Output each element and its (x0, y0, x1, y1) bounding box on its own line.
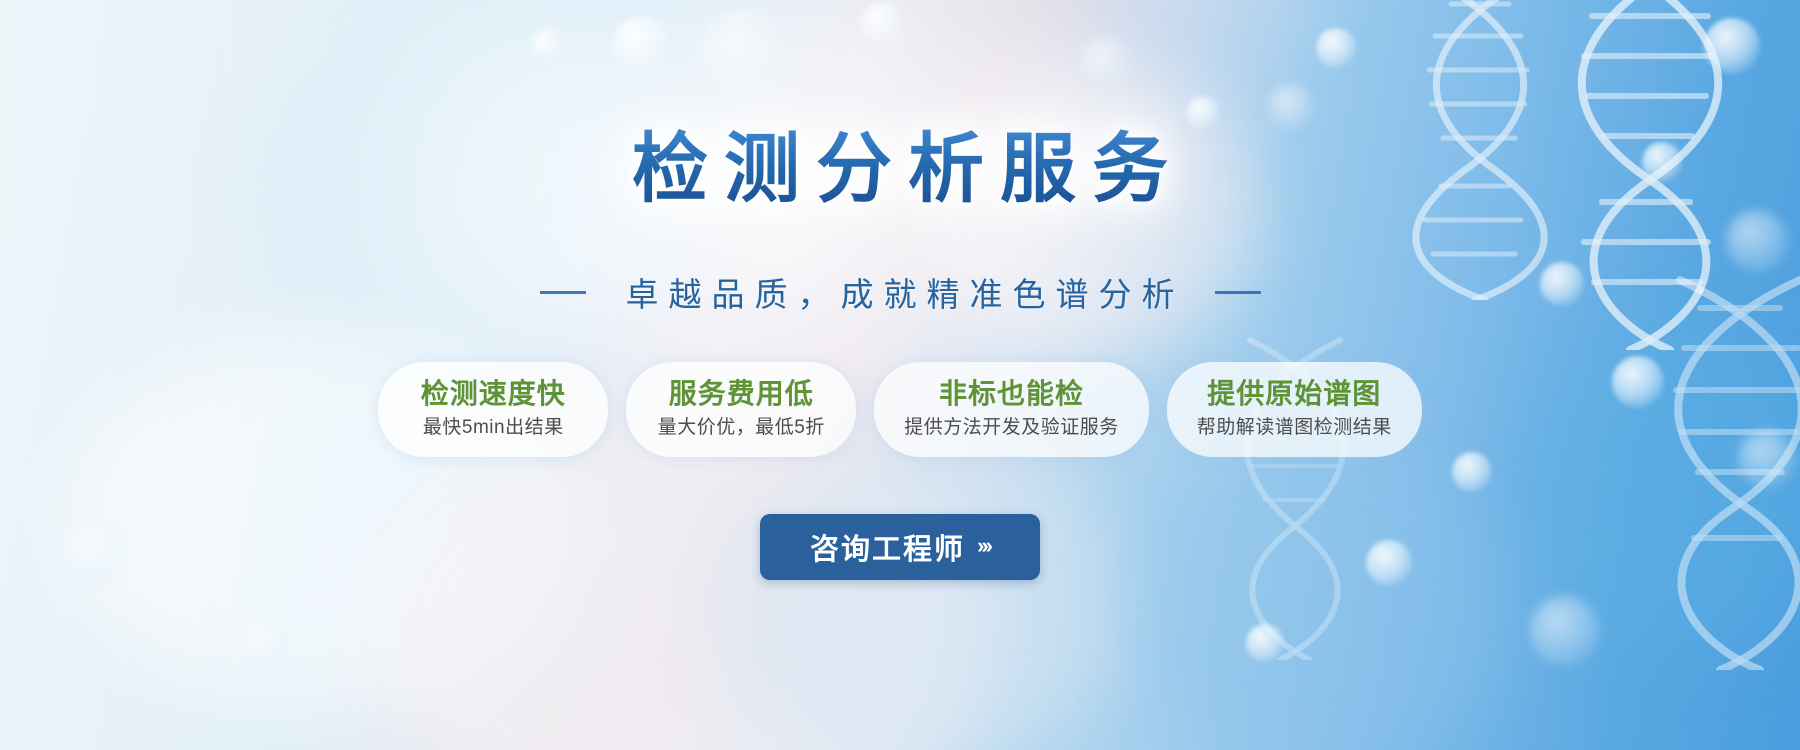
feature-pill-nonstandard: 非标也能检 提供方法开发及验证服务 (874, 362, 1149, 457)
feature-pill-speed: 检测速度快 最快5min出结果 (378, 362, 608, 457)
page-subtitle: 卓越品质，成就精准色谱分析 (616, 268, 1185, 316)
cta-label: 咨询工程师 (810, 526, 965, 568)
feature-pill-list: 检测速度快 最快5min出结果 服务费用低 量大价优，最低5折 非标也能检 提供… (0, 362, 1800, 457)
banner-content: 检测分析服务 卓越品质，成就精准色谱分析 检测速度快 最快5min出结果 服务费… (0, 0, 1800, 750)
feature-pill-title: 服务费用低 (656, 377, 826, 411)
chevron-right-triple-icon: ››› (977, 533, 990, 559)
detection-service-banner: 检测分析服务 卓越品质，成就精准色谱分析 检测速度快 最快5min出结果 服务费… (0, 0, 1800, 750)
feature-pill-raw-spectra: 提供原始谱图 帮助解读谱图检测结果 (1167, 362, 1422, 457)
feature-pill-title: 非标也能检 (904, 377, 1119, 411)
feature-pill-title: 提供原始谱图 (1197, 377, 1392, 411)
consult-engineer-button[interactable]: 咨询工程师 ››› (760, 514, 1040, 580)
feature-pill-title: 检测速度快 (408, 377, 578, 411)
page-title: 检测分析服务 (0, 128, 1800, 212)
dash-right-icon (1215, 291, 1261, 294)
feature-pill-subtitle: 最快5min出结果 (408, 417, 578, 440)
dash-left-icon (540, 291, 586, 294)
feature-pill-subtitle: 提供方法开发及验证服务 (904, 417, 1119, 440)
subtitle-row: 卓越品质，成就精准色谱分析 (0, 268, 1800, 316)
feature-pill-subtitle: 量大价优，最低5折 (656, 417, 826, 440)
feature-pill-subtitle: 帮助解读谱图检测结果 (1197, 417, 1392, 440)
feature-pill-price: 服务费用低 量大价优，最低5折 (626, 362, 856, 457)
